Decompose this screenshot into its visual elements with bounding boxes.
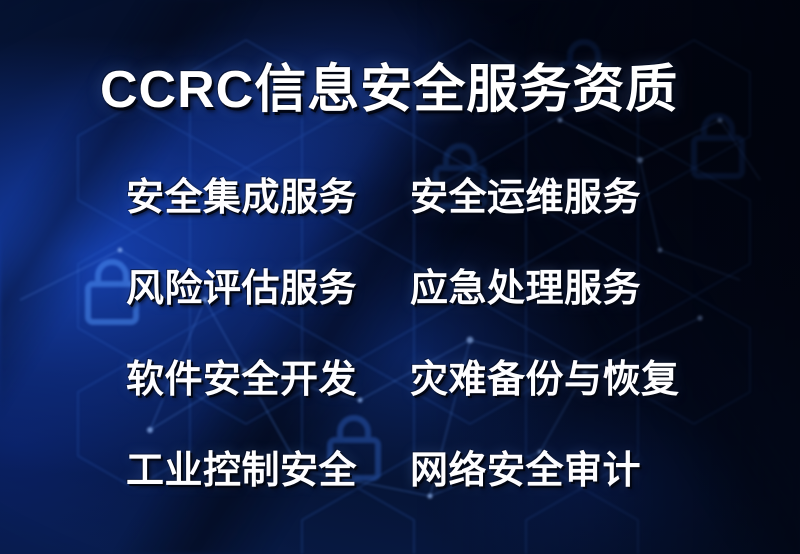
list-item: 软件安全开发 [126, 358, 410, 449]
page-title: CCRC信息安全服务资质 [100, 62, 678, 118]
list-item: 安全集成服务 [126, 176, 410, 267]
list-item: 工业控制安全 [126, 449, 410, 540]
list-item: 风险评估服务 [126, 267, 410, 358]
list-item: 安全运维服务 [410, 176, 726, 267]
service-list: 安全集成服务 安全运维服务 风险评估服务 应急处理服务 软件安全开发 灾难备份与… [126, 176, 726, 540]
ccrc-qualification-poster: CCRC信息安全服务资质 安全集成服务 安全运维服务 风险评估服务 应急处理服务… [0, 0, 800, 554]
list-item: 灾难备份与恢复 [410, 358, 726, 449]
poster-content: CCRC信息安全服务资质 安全集成服务 安全运维服务 风险评估服务 应急处理服务… [0, 0, 800, 554]
list-item: 网络安全审计 [410, 449, 726, 540]
list-item: 应急处理服务 [410, 267, 726, 358]
